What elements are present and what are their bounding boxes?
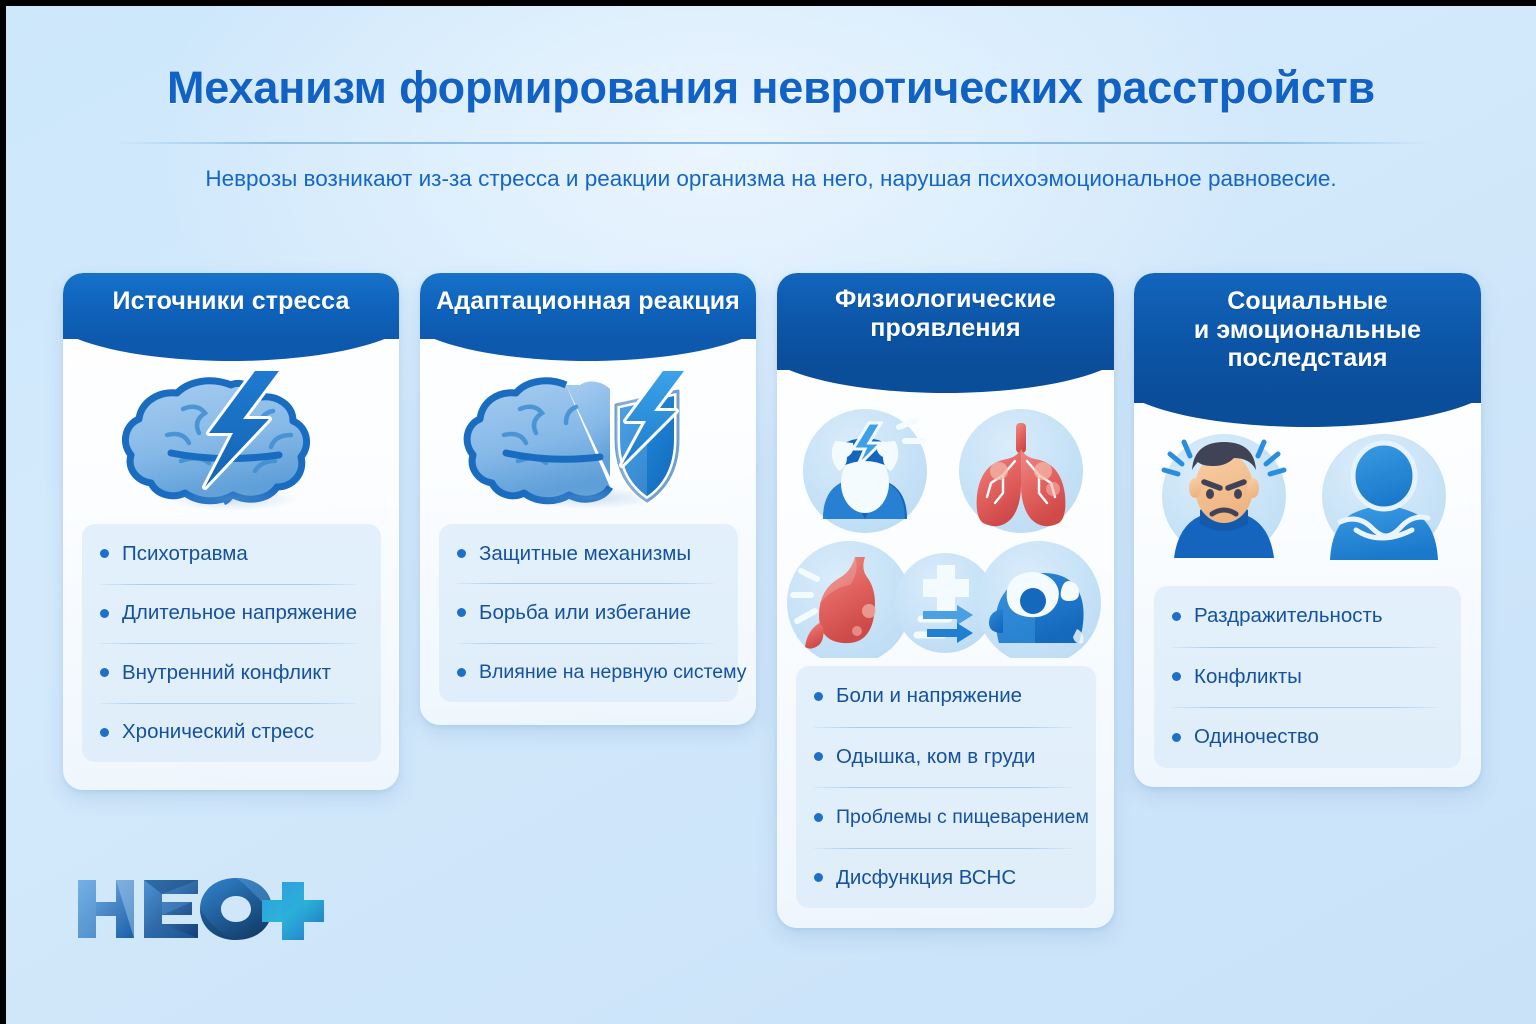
list-panel-adaptive-response: Защитные механизмы Борьба или избегание …	[439, 524, 738, 702]
list-item[interactable]: Влияние на нервную систему	[457, 643, 720, 702]
card-social-emotional-consequences[interactable]: Социальные и эмоциональные последстаия	[1134, 273, 1481, 787]
logo-letter-n	[78, 880, 134, 938]
page-title: Механизм формирования невротических расс…	[6, 62, 1536, 114]
list-item-label: Внутренний конфликт	[122, 661, 331, 685]
card-title-line-1: Физиологические	[777, 285, 1114, 314]
list-item-label: Защитные механизмы	[479, 542, 691, 566]
page-subtitle: Неврозы возникают из-за стресса и реакци…	[6, 166, 1536, 192]
title-divider	[114, 142, 1429, 144]
list-item[interactable]: Проблемы с пищеварением	[814, 787, 1078, 848]
list-item-label: Раздражительность	[1194, 604, 1383, 628]
bullet-icon	[457, 549, 466, 558]
bullet-icon	[814, 752, 823, 761]
icon-area-adaptive-response	[420, 369, 756, 519]
list-item-label: Боли и напряжение	[836, 684, 1022, 708]
list-item-label: Проблемы с пищеварением	[836, 806, 1089, 829]
card-title-line-2: и эмоциональные	[1134, 316, 1481, 345]
icon-area-sources-of-stress	[63, 369, 399, 519]
list-item[interactable]: Раздражительность	[1172, 586, 1443, 647]
bullet-icon	[100, 549, 109, 558]
list-item[interactable]: Одиночество	[1172, 707, 1443, 768]
list-item[interactable]: Боли и напряжение	[814, 666, 1078, 727]
icon-shadow	[520, 487, 660, 509]
card-header-social-emotional-consequences: Социальные и эмоциональные последстаия	[1134, 273, 1481, 403]
card-title-adaptive-response: Адаптационная реакция	[420, 287, 756, 316]
bullet-icon	[814, 873, 823, 882]
list-item[interactable]: Конфликты	[1172, 647, 1443, 708]
card-adaptive-response[interactable]: Адаптационная реакция	[420, 273, 756, 725]
list-item[interactable]: Психотравма	[100, 524, 363, 584]
list-item-label: Длительное напряжение	[122, 601, 357, 625]
bullet-icon	[100, 668, 109, 677]
icon-area-social-emotional-consequences	[1134, 418, 1481, 578]
list-item[interactable]: Длительное напряжение	[100, 584, 363, 644]
icon-shadow	[168, 487, 298, 511]
list-panel-sources-of-stress: Психотравма Длительное напряжение Внутре…	[82, 524, 381, 762]
list-item-label: Одышка, ком в груди	[836, 745, 1035, 769]
infographic-canvas: Механизм формирования невротических расс…	[6, 6, 1536, 1024]
list-item[interactable]: Внутренний конфликт	[100, 643, 363, 703]
card-title-sources-of-stress: Источники стресса	[63, 287, 399, 316]
list-item-label: Конфликты	[1194, 665, 1302, 689]
list-item-label: Влияние на нервную систему	[479, 661, 747, 684]
bullet-icon	[457, 668, 466, 677]
card-physiological-manifestations[interactable]: Физиологические проявления	[777, 273, 1114, 928]
list-item-label: Хронический стресс	[122, 720, 314, 744]
card-header-sources-of-stress: Источники стресса	[63, 273, 399, 339]
card-header-physiological-manifestations: Физиологические проявления	[777, 273, 1114, 370]
bullet-icon	[1172, 672, 1181, 681]
card-sources-of-stress[interactable]: Источники стресса	[63, 273, 399, 790]
list-item[interactable]: Хронический стресс	[100, 703, 363, 763]
bullet-icon	[814, 692, 823, 701]
list-item-label: Дисфункция ВСНС	[836, 866, 1016, 890]
bullet-icon	[814, 813, 823, 822]
list-panel-physiological-manifestations: Боли и напряжение Одышка, ком в груди Пр…	[796, 666, 1096, 908]
list-item[interactable]: Дисфункция ВСНС	[814, 848, 1078, 909]
list-panel-social-emotional-consequences: Раздражительность Конфликты Одиночество	[1154, 586, 1461, 768]
icon-area-physiological-manifestations	[777, 393, 1114, 658]
list-item[interactable]: Одышка, ком в груди	[814, 727, 1078, 788]
bullet-icon	[100, 728, 109, 737]
brand-logo[interactable]	[74, 868, 324, 953]
card-title-line-3: последстаия	[1134, 344, 1481, 373]
bullet-icon	[1172, 612, 1181, 621]
bullet-icon	[1172, 733, 1181, 742]
logo-letter-o	[200, 878, 272, 940]
logo-letter-e	[144, 880, 198, 938]
card-title-line-1: Социальные	[1134, 287, 1481, 316]
list-item[interactable]: Борьба или избегание	[457, 583, 720, 642]
card-header-adaptive-response: Адаптационная реакция	[420, 273, 756, 339]
list-item-label: Борьба или избегание	[479, 601, 691, 625]
list-item[interactable]: Защитные механизмы	[457, 524, 720, 583]
logo-plus	[262, 882, 324, 940]
list-item-label: Психотравма	[122, 542, 248, 566]
card-title-line-2: проявления	[777, 314, 1114, 343]
bullet-icon	[100, 609, 109, 618]
bullet-icon	[457, 608, 466, 617]
list-item-label: Одиночество	[1194, 725, 1319, 749]
